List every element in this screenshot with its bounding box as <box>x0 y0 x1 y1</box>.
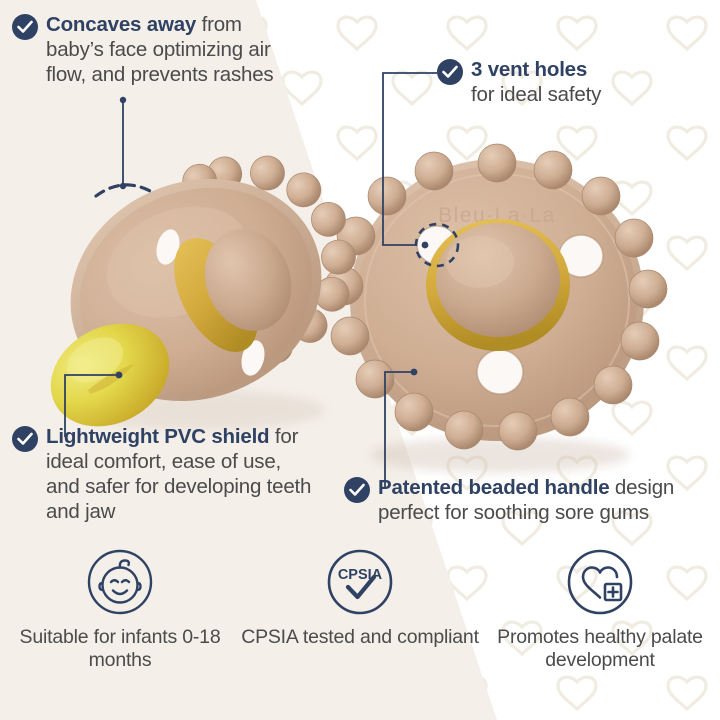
callout-beaded-handle: Patented beaded handle design perfect fo… <box>344 475 714 525</box>
callout-body: for ideal safety <box>471 83 601 106</box>
check-circle-icon <box>12 426 38 452</box>
pacifier-front-view: Bleu·La·La <box>325 144 667 473</box>
check-circle-icon <box>12 14 38 40</box>
badge-healthy-palate: Promotes healthy palate development <box>480 548 720 688</box>
callout-concaves-away: Concaves away from baby’s face optimizin… <box>12 12 282 87</box>
callout-heading: Concaves away <box>46 13 196 36</box>
badge-cpsia: CPSIA CPSIA tested and compliant <box>240 548 480 688</box>
callout-pvc-shield: Lightweight PVC shield for ideal comfort… <box>12 424 312 524</box>
check-circle-icon <box>437 59 463 85</box>
badge-label: CPSIA tested and compliant <box>241 626 479 649</box>
callout-heading: Patented beaded handle <box>378 476 609 499</box>
infographic-canvas: Bleu·La·La <box>0 0 720 720</box>
cpsia-check-icon: CPSIA <box>326 548 394 616</box>
callout-heading: Lightweight PVC shield <box>46 425 269 448</box>
heart-plus-icon <box>566 548 634 616</box>
check-circle-icon <box>344 477 370 503</box>
cpsia-text: CPSIA <box>338 567 383 583</box>
callout-heading: 3 vent holes <box>471 58 587 81</box>
trust-badges-row: Suitable for infants 0-18 months CPSIA C… <box>0 548 720 688</box>
pacifier-side-view <box>33 134 374 446</box>
callout-vent-holes: 3 vent holes for ideal safety <box>437 57 707 107</box>
badge-label: Promotes healthy palate development <box>480 626 720 672</box>
badge-label: Suitable for infants 0-18 months <box>0 626 240 672</box>
badge-suitable-for-infants: Suitable for infants 0-18 months <box>0 548 240 688</box>
baby-face-icon <box>86 548 154 616</box>
